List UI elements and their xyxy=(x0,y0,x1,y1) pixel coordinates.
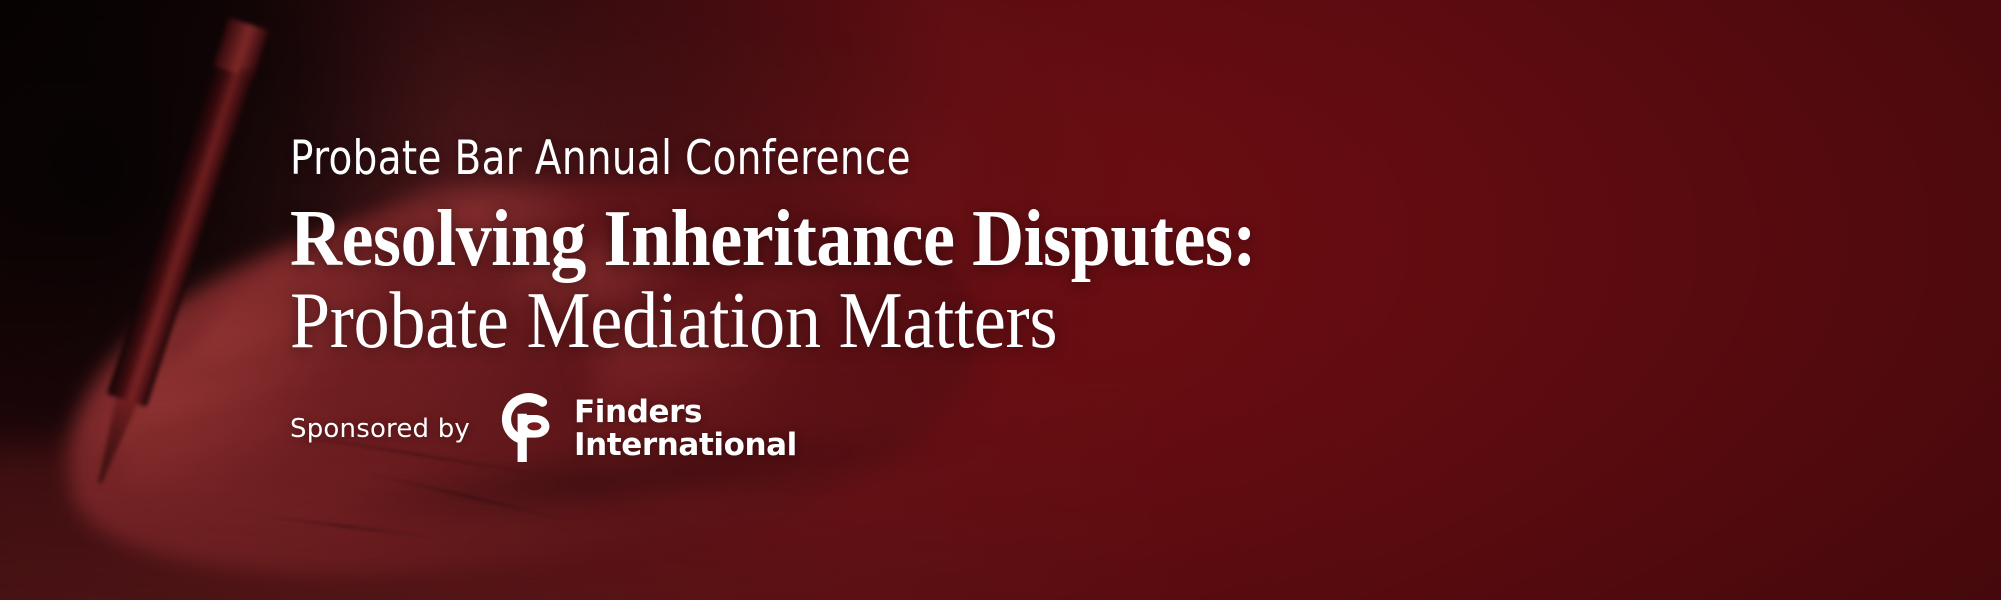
sponsor-logo[interactable]: Finders International xyxy=(498,393,797,465)
headline-line-2: Probate Mediation Matters xyxy=(290,280,1256,363)
sponsor-name-line-1: Finders xyxy=(574,396,797,429)
sponsored-by-label: Sponsored by xyxy=(290,414,470,444)
finders-international-cp-monogram-icon xyxy=(498,393,560,465)
headline-line-1: Resolving Inheritance Disputes: xyxy=(290,200,1256,278)
event-kicker: Probate Bar Annual Conference xyxy=(290,135,1278,182)
banner-content: Probate Bar Annual Conference Resolving … xyxy=(290,0,1363,600)
conference-banner: Probate Bar Annual Conference Resolving … xyxy=(0,0,2001,600)
sponsor-name-line-2: International xyxy=(574,429,797,462)
sponsor-row: Sponsored by Finders International xyxy=(290,393,1363,465)
sponsor-name: Finders International xyxy=(574,396,797,462)
